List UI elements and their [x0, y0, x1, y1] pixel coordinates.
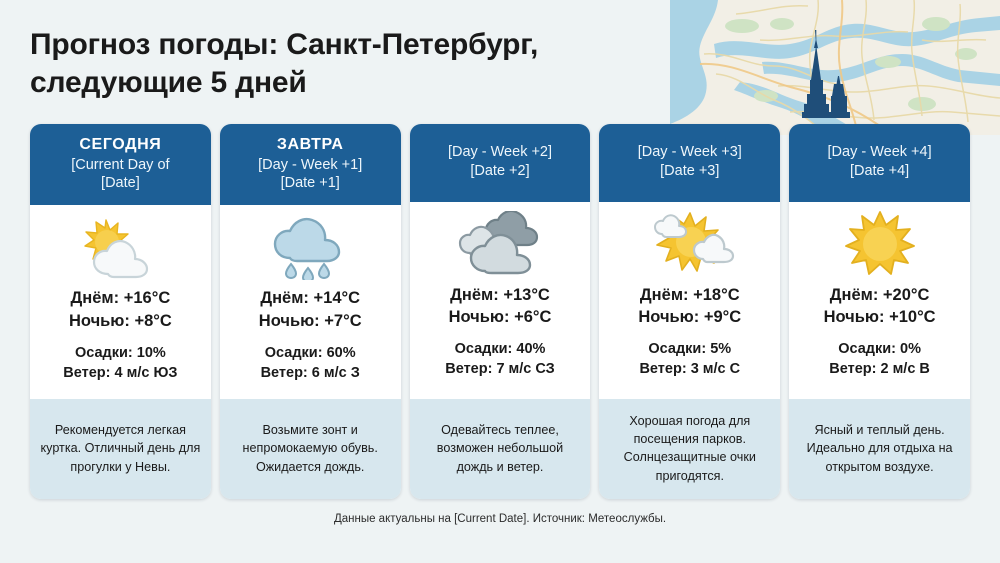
- day-temp-label: Днём:: [640, 286, 689, 304]
- card-advice: Одевайтесь теплее, возможен небольшой до…: [410, 399, 591, 499]
- day-temp-label: Днём:: [71, 289, 120, 307]
- wind-label: Ветер:: [639, 361, 686, 377]
- wind-label: Ветер:: [63, 365, 110, 381]
- day-temp-value: +16°C: [124, 289, 171, 307]
- card-date-line-2: [Date +4]: [797, 163, 962, 181]
- wind-value: 6 м/с З: [312, 365, 360, 381]
- sun-with-clouds-icon: [599, 202, 780, 280]
- card-stats: Днём: +13°C Ночью: +6°C Осадки: 40% Вете…: [410, 280, 591, 400]
- page-title-line-1: Прогноз погоды: Санкт-Петербург,: [30, 26, 690, 64]
- card-stats: Днём: +18°C Ночью: +9°C Осадки: 5% Ветер…: [599, 280, 780, 400]
- night-temp-value: +7°C: [324, 312, 361, 330]
- card-advice: Рекомендуется легкая куртка. Отличный де…: [30, 399, 211, 499]
- card-header: [Day - Week +3] [Date +3]: [599, 124, 780, 202]
- card-date-line-1: [Day - Week +3]: [607, 144, 772, 162]
- precip-value: 5%: [710, 341, 731, 357]
- precip-row: Осадки: 0%: [795, 340, 964, 360]
- wind-value: 2 м/с В: [880, 361, 929, 377]
- card-header: ЗАВТРА [Day - Week +1] [Date +1]: [220, 124, 401, 206]
- wind-row: Ветер: 2 м/с В: [795, 360, 964, 380]
- night-temp-row: Ночью: +7°C: [226, 310, 395, 332]
- card-date-line-2: [Date]: [38, 175, 203, 193]
- night-temp-value: +10°C: [889, 308, 936, 326]
- card-header: [Day - Week +2] [Date +2]: [410, 124, 591, 202]
- forecast-card-day-4[interactable]: [Day - Week +3] [Date +3] Днём: +18°C: [599, 124, 780, 500]
- day-temp-row: Днём: +13°C: [416, 284, 585, 306]
- day-temp-row: Днём: +18°C: [605, 284, 774, 306]
- card-date-line-1: [Day - Week +1]: [228, 157, 393, 175]
- wind-value: 3 м/с С: [691, 361, 740, 377]
- card-header: СЕГОДНЯ [Current Day of [Date]: [30, 124, 211, 206]
- precip-value: 0%: [900, 341, 921, 357]
- overcast-clouds-icon: [410, 202, 591, 280]
- forecast-cards-row: СЕГОДНЯ [Current Day of [Date] Днём: +16…: [30, 124, 970, 500]
- card-header: [Day - Week +4] [Date +4]: [789, 124, 970, 202]
- card-stats: Днём: +14°C Ночью: +7°C Осадки: 60% Вете…: [220, 283, 401, 399]
- card-date-line-1: [Day - Week +2]: [418, 144, 583, 162]
- precip-value: 60%: [327, 345, 356, 361]
- night-temp-label: Ночью:: [259, 312, 320, 330]
- card-advice: Возьмите зонт и непромокаемую обувь. Ожи…: [220, 399, 401, 499]
- card-date-line-2: [Date +3]: [607, 163, 772, 181]
- card-day-label: ЗАВТРА: [228, 135, 393, 154]
- forecast-card-tomorrow[interactable]: ЗАВТРА [Day - Week +1] [Date +1] Днём: +…: [220, 124, 401, 500]
- sun-behind-cloud-icon: [30, 205, 211, 283]
- day-temp-label: Днём:: [450, 286, 499, 304]
- night-temp-label: Ночью:: [824, 308, 885, 326]
- wind-row: Ветер: 3 м/с С: [605, 360, 774, 380]
- day-temp-row: Днём: +20°C: [795, 284, 964, 306]
- wind-row: Ветер: 4 м/с ЮЗ: [36, 364, 205, 384]
- day-temp-value: +20°C: [883, 286, 930, 304]
- day-temp-label: Днём:: [260, 289, 309, 307]
- night-temp-value: +6°C: [514, 308, 551, 326]
- precip-row: Осадки: 5%: [605, 340, 774, 360]
- precip-label: Осадки:: [75, 345, 133, 361]
- day-temp-value: +14°C: [314, 289, 361, 307]
- night-temp-row: Ночью: +10°C: [795, 306, 964, 328]
- card-stats: Днём: +20°C Ночью: +10°C Осадки: 0% Вете…: [789, 280, 970, 400]
- weather-forecast-page: Прогноз погоды: Санкт-Петербург, следующ…: [0, 0, 1000, 563]
- night-temp-row: Ночью: +6°C: [416, 306, 585, 328]
- night-temp-label: Ночью:: [638, 308, 699, 326]
- precip-row: Осадки: 10%: [36, 344, 205, 364]
- day-temp-value: +13°C: [503, 286, 550, 304]
- day-temp-row: Днём: +16°C: [36, 287, 205, 309]
- night-temp-value: +8°C: [134, 312, 171, 330]
- precip-row: Осадки: 60%: [226, 344, 395, 364]
- forecast-card-today[interactable]: СЕГОДНЯ [Current Day of [Date] Днём: +16…: [30, 124, 211, 500]
- sun-icon: [789, 202, 970, 280]
- data-source-footer: Данные актуальны на [Current Date]. Исто…: [30, 513, 970, 525]
- card-date-line-2: [Date +1]: [228, 175, 393, 193]
- night-temp-row: Ночью: +9°C: [605, 306, 774, 328]
- day-temp-label: Днём:: [830, 286, 879, 304]
- page-title: Прогноз погоды: Санкт-Петербург, следующ…: [30, 26, 690, 102]
- wind-value: 4 м/с ЮЗ: [115, 365, 178, 381]
- card-day-label: СЕГОДНЯ: [38, 135, 203, 154]
- card-date-line-2: [Date +2]: [418, 163, 583, 181]
- forecast-card-day-3[interactable]: [Day - Week +2] [Date +2] Днём: +13°C Но…: [410, 124, 591, 500]
- precip-value: 40%: [516, 341, 545, 357]
- wind-label: Ветер:: [829, 361, 876, 377]
- wind-value: 7 м/с СЗ: [496, 361, 554, 377]
- precip-label: Осадки:: [648, 341, 706, 357]
- wind-row: Ветер: 7 м/с СЗ: [416, 360, 585, 380]
- night-temp-label: Ночью:: [449, 308, 510, 326]
- night-temp-row: Ночью: +8°C: [36, 310, 205, 332]
- card-date-line-1: [Current Day of: [38, 157, 203, 175]
- wind-label: Ветер:: [261, 365, 308, 381]
- day-temp-value: +18°C: [693, 286, 740, 304]
- forecast-card-day-5[interactable]: [Day - Week +4] [Date +4] Днём: +20°C Но…: [789, 124, 970, 500]
- precip-value: 10%: [137, 345, 166, 361]
- precip-label: Осадки:: [455, 341, 513, 357]
- card-advice: Ясный и теплый день. Идеально для отдыха…: [789, 399, 970, 499]
- precip-label: Осадки:: [265, 345, 323, 361]
- card-stats: Днём: +16°C Ночью: +8°C Осадки: 10% Вете…: [30, 283, 211, 399]
- day-temp-row: Днём: +14°C: [226, 287, 395, 309]
- night-temp-label: Ночью:: [69, 312, 130, 330]
- wind-label: Ветер:: [445, 361, 492, 377]
- wind-row: Ветер: 6 м/с З: [226, 364, 395, 384]
- night-temp-value: +9°C: [704, 308, 741, 326]
- page-title-line-2: следующие 5 дней: [30, 64, 690, 102]
- card-advice: Хорошая погода для посещения парков. Сол…: [599, 399, 780, 499]
- rain-cloud-icon: [220, 205, 401, 283]
- card-date-line-1: [Day - Week +4]: [797, 144, 962, 162]
- precip-label: Осадки:: [838, 341, 896, 357]
- precip-row: Осадки: 40%: [416, 340, 585, 360]
